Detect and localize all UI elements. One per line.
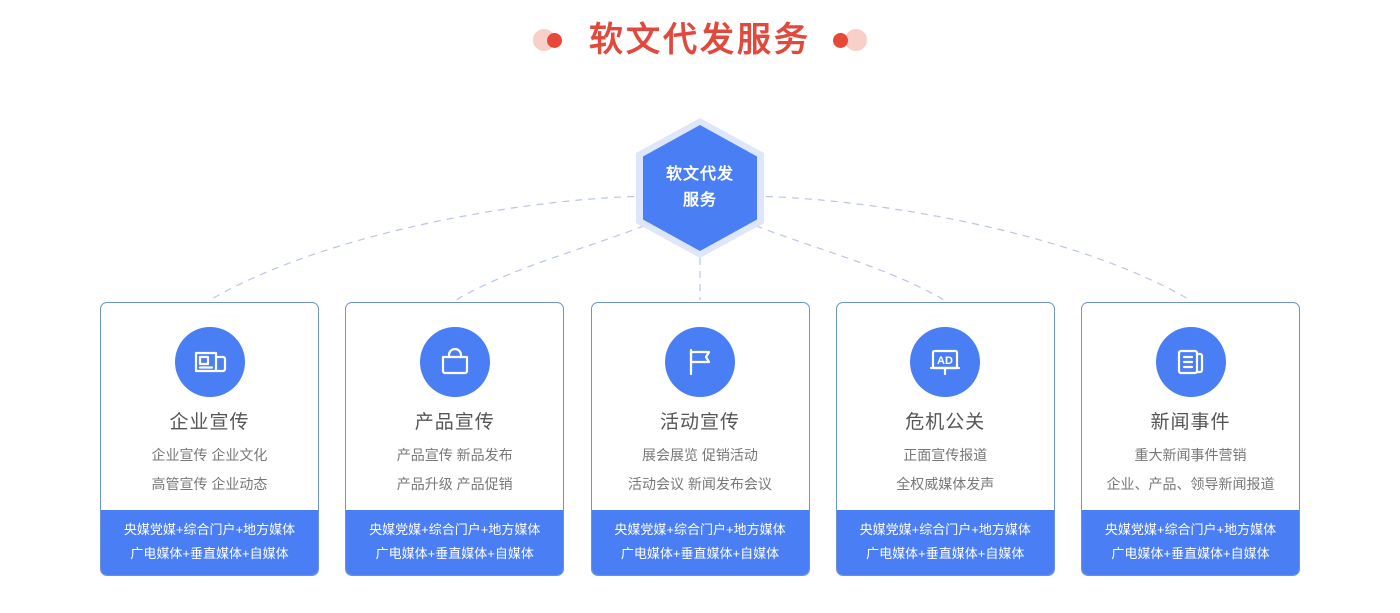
service-card[interactable]: 新闻事件 重大新闻事件营销 企业、产品、领导新闻报道 央媒党媒+综合门户+地方媒… — [1081, 302, 1300, 576]
card-footer: 央媒党媒+综合门户+地方媒体 广电媒体+垂直媒体+自媒体 — [1082, 510, 1299, 575]
footer-line-2: 广电媒体+垂直媒体+自媒体 — [866, 542, 1024, 566]
card-subtitle-2: 全权威媒体发声 — [896, 476, 994, 493]
card-title: 活动宣传 — [660, 413, 740, 434]
footer-line-1: 央媒党媒+综合门户+地方媒体 — [124, 518, 295, 542]
footer-line-2: 广电媒体+垂直媒体+自媒体 — [1111, 542, 1269, 566]
service-card[interactable]: 企业宣传 企业宣传 企业文化 高管宣传 企业动态 央媒党媒+综合门户+地方媒体 … — [100, 302, 319, 576]
card-footer: 央媒党媒+综合门户+地方媒体 广电媒体+垂直媒体+自媒体 — [346, 510, 563, 575]
card-subtitle-1: 产品宣传 新品发布 — [397, 447, 513, 464]
card-subtitle-2: 高管宣传 企业动态 — [152, 476, 268, 493]
flag-icon — [665, 327, 735, 397]
footer-line-2: 广电媒体+垂直媒体+自媒体 — [376, 542, 534, 566]
card-subtitle-1: 展会展览 促销活动 — [642, 447, 758, 464]
connector-to-card-5 — [740, 196, 1190, 300]
footer-line-1: 央媒党媒+综合门户+地方媒体 — [860, 518, 1031, 542]
card-subtitle-2: 产品升级 产品促销 — [397, 476, 513, 493]
card-title: 新闻事件 — [1150, 413, 1230, 434]
footer-line-1: 央媒党媒+综合门户+地方媒体 — [1105, 518, 1276, 542]
card-subtitle-1: 重大新闻事件营销 — [1135, 447, 1247, 464]
newspaper-icon — [175, 327, 245, 397]
svg-text:AD: AD — [937, 355, 953, 367]
hub-label-line2: 服务 — [683, 188, 717, 214]
footer-line-1: 央媒党媒+综合门户+地方媒体 — [614, 518, 785, 542]
card-subtitle-2: 活动会议 新闻发布会议 — [628, 476, 772, 493]
service-card[interactable]: 产品宣传 产品宣传 新品发布 产品升级 产品促销 央媒党媒+综合门户+地方媒体 … — [345, 302, 564, 576]
service-card-list: 企业宣传 企业宣传 企业文化 高管宣传 企业动态 央媒党媒+综合门户+地方媒体 … — [100, 302, 1300, 576]
central-hub-hexagon: 软文代发 服务 — [636, 118, 764, 258]
service-card[interactable]: 活动宣传 展会展览 促销活动 活动会议 新闻发布会议 央媒党媒+综合门户+地方媒… — [591, 302, 810, 576]
news-document-icon — [1156, 327, 1226, 397]
footer-line-2: 广电媒体+垂直媒体+自媒体 — [621, 542, 779, 566]
decorative-dots-left-icon — [533, 28, 567, 52]
card-footer: 央媒党媒+综合门户+地方媒体 广电媒体+垂直媒体+自媒体 — [101, 510, 318, 575]
decorative-dots-right-icon — [833, 28, 867, 52]
card-subtitle-1: 企业宣传 企业文化 — [152, 447, 268, 464]
ad-billboard-icon: AD — [910, 327, 980, 397]
card-footer: 央媒党媒+综合门户+地方媒体 广电媒体+垂直媒体+自媒体 — [837, 510, 1054, 575]
card-title: 企业宣传 — [169, 413, 249, 434]
footer-line-1: 央媒党媒+综合门户+地方媒体 — [369, 518, 540, 542]
card-subtitle-1: 正面宣传报道 — [903, 447, 987, 464]
card-footer: 央媒党媒+综合门户+地方媒体 广电媒体+垂直媒体+自媒体 — [592, 510, 809, 575]
card-subtitle-2: 企业、产品、领导新闻报道 — [1107, 476, 1275, 493]
page-header: 软文代发服务 — [0, 16, 1400, 64]
hub-label-line1: 软文代发 — [666, 162, 734, 188]
page-title: 软文代发服务 — [589, 23, 811, 57]
card-title: 危机公关 — [905, 413, 985, 434]
footer-line-2: 广电媒体+垂直媒体+自媒体 — [130, 542, 288, 566]
service-card[interactable]: AD 危机公关 正面宣传报道 全权威媒体发声 央媒党媒+综合门户+地方媒体 广电… — [836, 302, 1055, 576]
shopping-bag-icon — [420, 327, 490, 397]
connector-to-card-1 — [210, 196, 660, 300]
card-title: 产品宣传 — [415, 413, 495, 434]
